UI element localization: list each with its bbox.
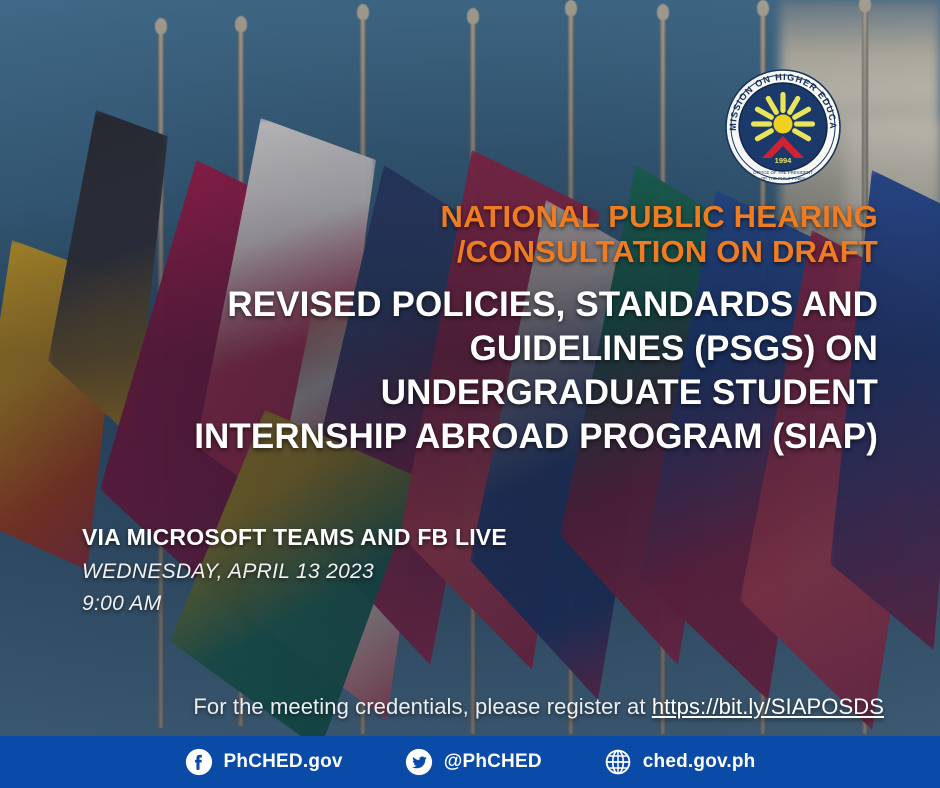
headline-line-2: GUIDELINES (PSGS) ON	[40, 327, 878, 371]
page-title: REVISED POLICIES, STANDARDS AND GUIDELIN…	[40, 283, 878, 459]
event-details: VIA MICROSOFT TEAMS AND FB LIVE WEDNESDA…	[82, 524, 507, 616]
social-bar: PhCHED.gov @PhCHED ched.gov.ph	[0, 736, 940, 788]
ched-logo: COMMISSION ON HIGHER EDUCATION 1994 OFFI…	[718, 62, 848, 192]
kicker-line-1: NATIONAL PUBLIC HEARING	[0, 199, 878, 234]
kicker-line-2: /CONSULTATION ON DRAFT	[0, 234, 878, 269]
social-item-facebook[interactable]: PhCHED.gov	[185, 748, 343, 776]
facebook-icon	[185, 748, 213, 776]
social-item-twitter[interactable]: @PhCHED	[405, 748, 542, 776]
logo-sub-line-2: OF THE PHILIPPINES	[761, 176, 805, 181]
event-date: WEDNESDAY, APRIL 13 2023	[82, 560, 507, 584]
twitter-icon	[405, 748, 433, 776]
headline-line-1: REVISED POLICIES, STANDARDS AND	[40, 283, 878, 327]
event-venue: VIA MICROSOFT TEAMS AND FB LIVE	[82, 524, 507, 551]
logo-sub-line-1: OFFICE OF THE PRESIDENT	[753, 170, 813, 175]
headline-line-3: UNDERGRADUATE STUDENT	[40, 371, 878, 415]
registration-line: For the meeting credentials, please regi…	[0, 694, 884, 720]
globe-icon	[604, 748, 632, 776]
poster-root: COMMISSION ON HIGHER EDUCATION 1994 OFFI…	[0, 0, 940, 788]
registration-link[interactable]: https://bit.ly/SIAPOSDS	[652, 694, 884, 719]
facebook-label: PhCHED.gov	[224, 751, 343, 773]
social-item-website[interactable]: ched.gov.ph	[604, 748, 756, 776]
headline-line-4: INTERNSHIP ABROAD PROGRAM (SIAP)	[40, 415, 878, 459]
website-label: ched.gov.ph	[643, 751, 756, 773]
poster-content: COMMISSION ON HIGHER EDUCATION 1994 OFFI…	[0, 0, 940, 788]
twitter-label: @PhCHED	[444, 751, 542, 773]
kicker-heading: NATIONAL PUBLIC HEARING /CONSULTATION ON…	[0, 199, 878, 269]
logo-year: 1994	[775, 156, 793, 165]
registration-text: For the meeting credentials, please regi…	[193, 694, 651, 719]
event-time: 9:00 AM	[82, 592, 507, 616]
